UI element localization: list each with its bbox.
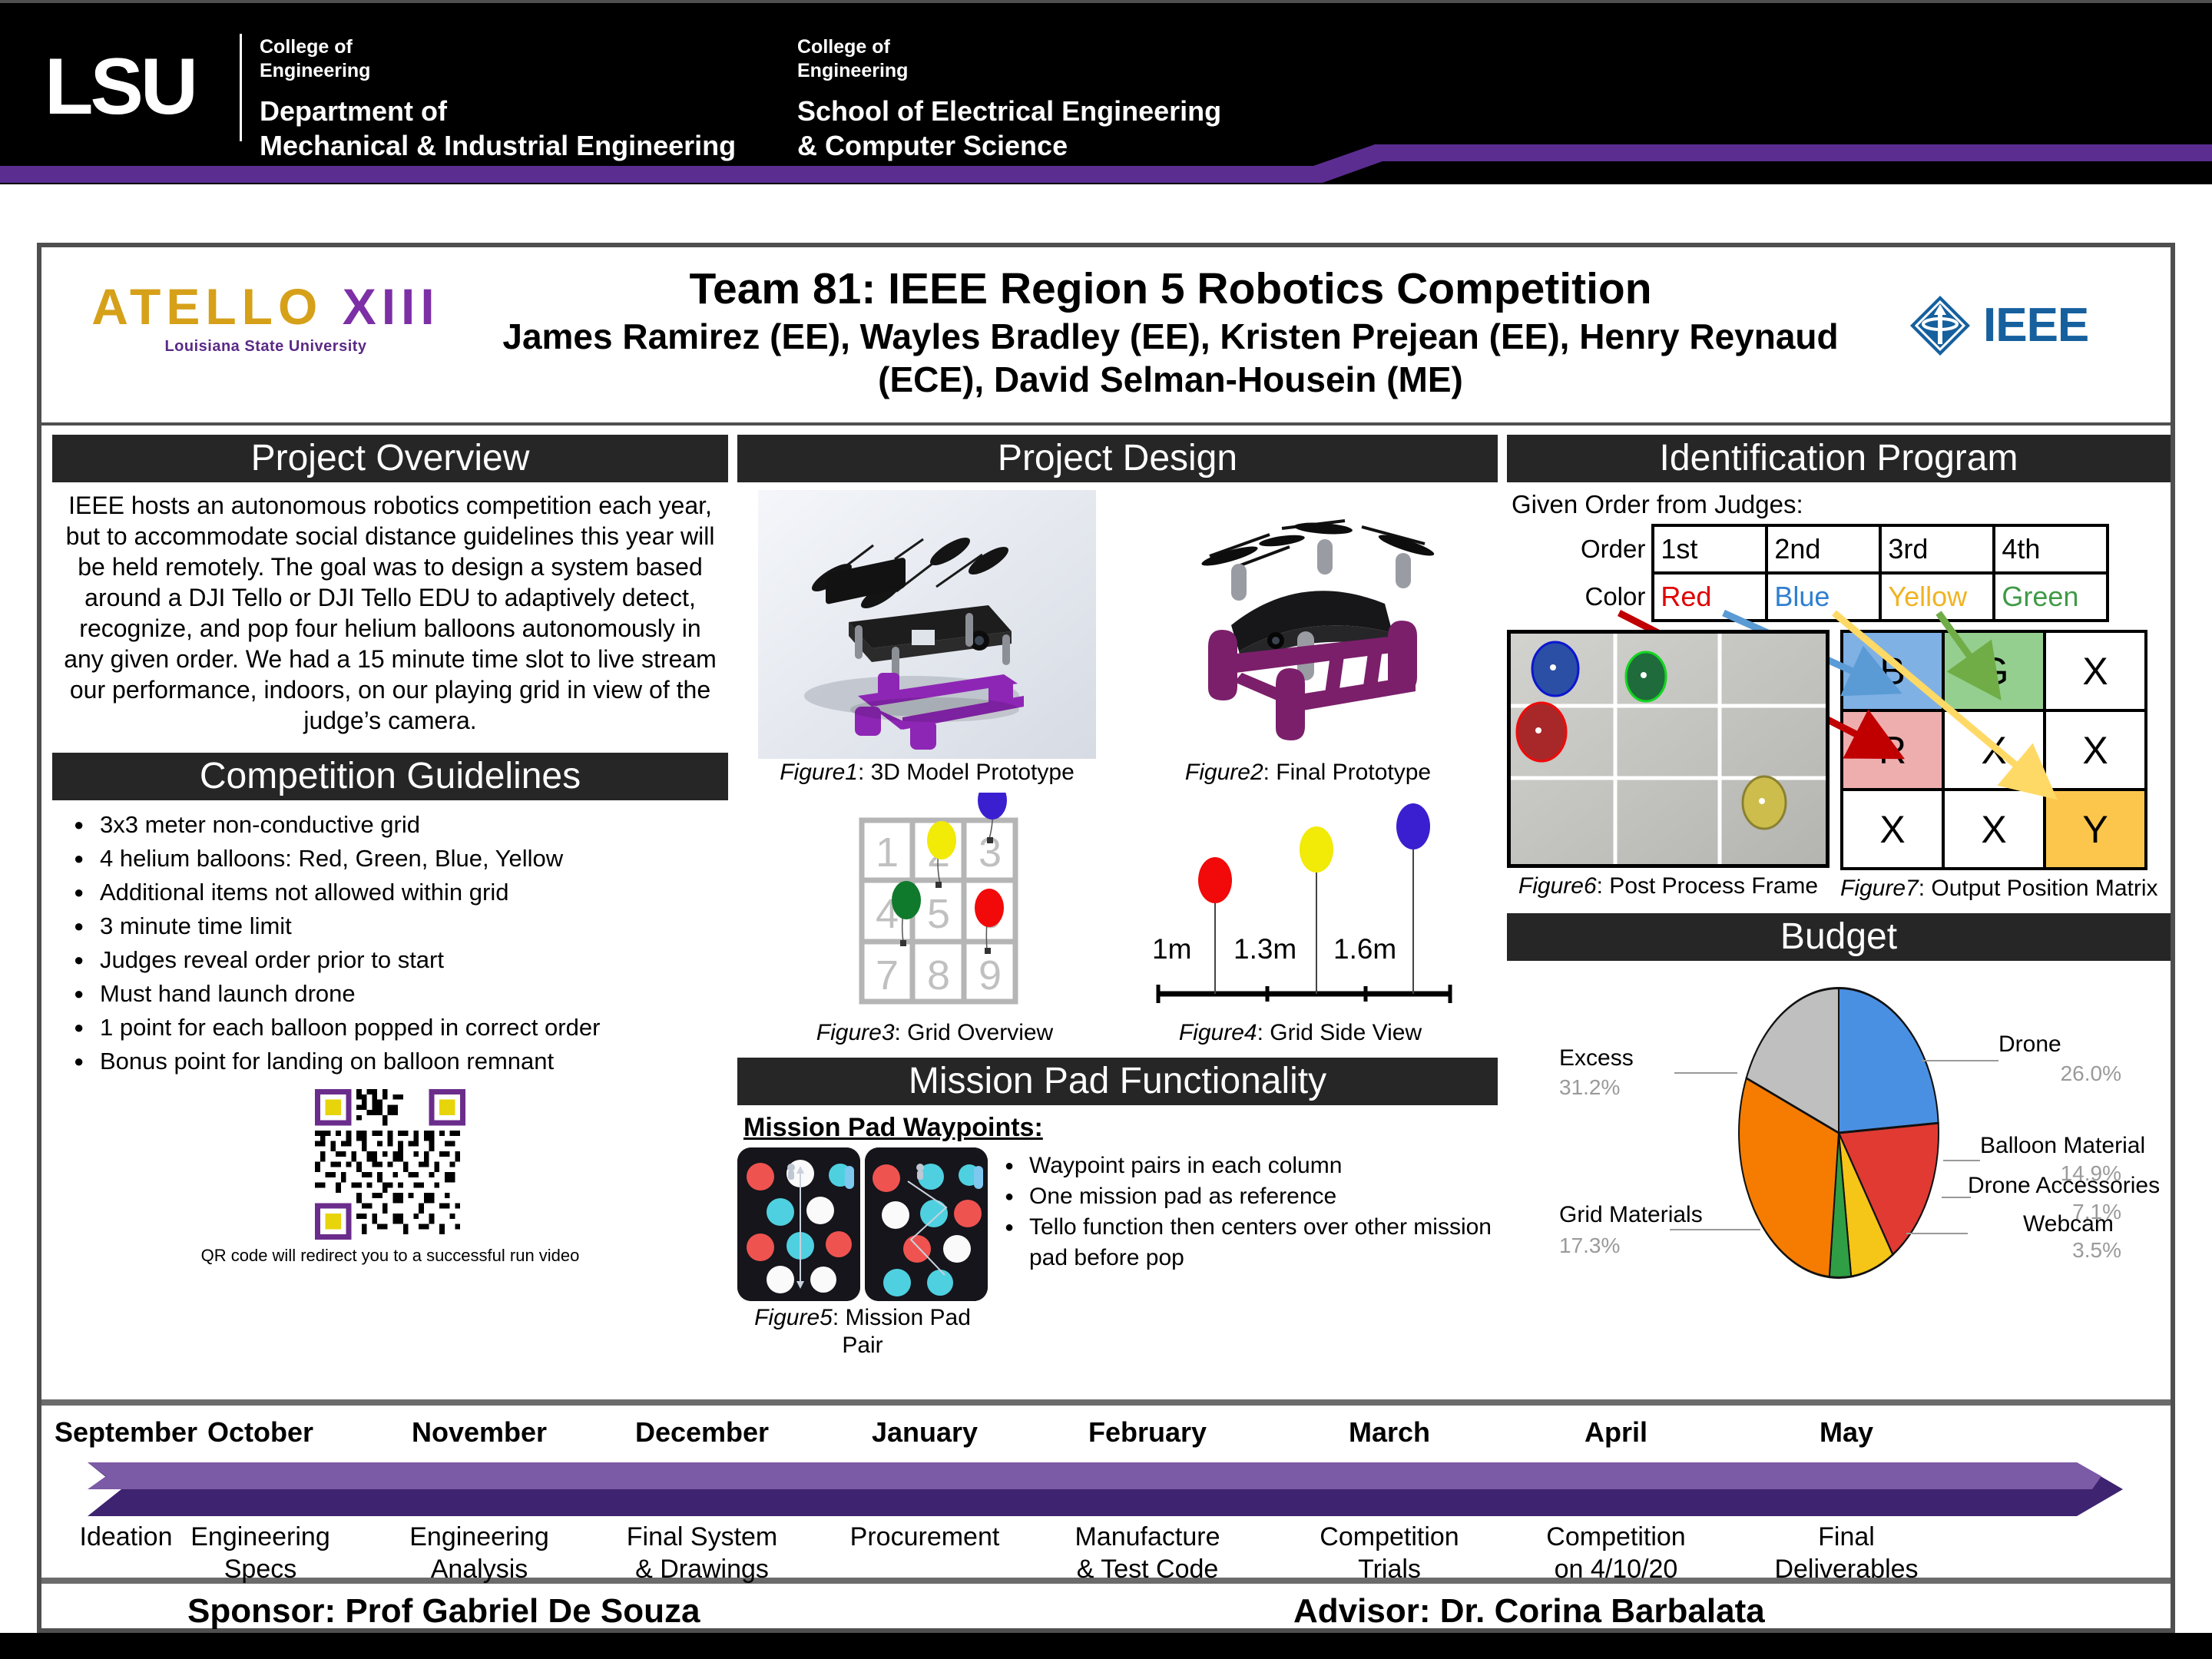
figure7-caption: Figure7: Output Position Matrix (1840, 875, 2158, 902)
identification-figures-row: Figure6: Post Process Frame B G X R X X (1507, 630, 2171, 902)
post-process-frame-image (1507, 630, 1830, 868)
section-header-competition-guidelines: Competition Guidelines (52, 753, 728, 800)
svg-text:7: 7 (876, 952, 899, 998)
figure3-caption: Figure3: Grid Overview (770, 1019, 1100, 1047)
header-top-rule (0, 0, 2212, 3)
header-purple-accent (0, 143, 2212, 184)
eecs-college-line1: College of (797, 35, 1221, 59)
figure4-block: 1m1.3m1.6m Figure4: Grid Side View (1135, 793, 1465, 1047)
mission-pad-pair-image (737, 1147, 988, 1301)
section-header-identification-program: Identification Program (1507, 435, 2171, 482)
pie-label-drone: Drone (1998, 1031, 2061, 1057)
table-row: B G X (1842, 631, 2146, 710)
competition-guidelines-list: 3x3 meter non-conductive grid 4 helium b… (74, 808, 728, 1078)
pie-label-balloon: Balloon Material (1980, 1133, 2145, 1158)
figure3-text: : Grid Overview (895, 1020, 1054, 1045)
table-row: R X X (1842, 710, 2146, 790)
judges-order-table: Order 1st 2nd 3rd 4th Color Red Blue Yel… (1581, 524, 2109, 622)
order-cell-1: 1st (1653, 525, 1767, 573)
timeline-task-9: Final Deliverables (1731, 1521, 1962, 1585)
list-item: 1 point for each balloon popped in corre… (74, 1011, 728, 1045)
eecs-school-line: School of Electrical Engineering (797, 94, 1221, 128)
budget-pie-chart: Drone 26.0% Balloon Material 14.9% Drone… (1507, 969, 2171, 1299)
mie-college-line2: Engineering (260, 59, 736, 83)
matrix-cell-r1c1: X (1943, 710, 2045, 790)
lsu-header-bar: LSU College of Engineering Department of… (0, 0, 2212, 184)
matrix-cell-r0c2: X (2045, 631, 2146, 710)
figure5-block: Figure5: Mission Pad Pair (737, 1147, 988, 1359)
pie-label-grid: Grid Materials (1559, 1202, 1703, 1227)
grid-side-view-image: 1m1.3m1.6m (1135, 793, 1465, 1019)
color-cell-3: Yellow (1880, 573, 1994, 621)
timeline-task-6: Manufacture & Test Code (1032, 1521, 1263, 1585)
table-row: Color Red Blue Yellow Green (1581, 573, 2108, 621)
bottom-black-bar (0, 1633, 2212, 1659)
mission-pad-subheading: Mission Pad Waypoints: (743, 1113, 1498, 1143)
svg-text:1: 1 (876, 829, 899, 876)
catello-xiii-logo: ATELLO XIII Louisiana State University (66, 280, 465, 370)
list-item: Must hand launch drone (74, 977, 728, 1011)
eecs-college-line2: Engineering (797, 59, 1221, 83)
timeline-task-3: Engineering Analysis (364, 1521, 594, 1585)
timeline-task-7: Competition Trials (1274, 1521, 1505, 1585)
figure2-caption: Figure2: Final Prototype (1139, 759, 1477, 786)
page-title: Team 81: IEEE Region 5 Robotics Competit… (472, 264, 1869, 313)
figure4-text: : Grid Side View (1257, 1020, 1422, 1045)
list-item: Additional items not allowed within grid (74, 876, 728, 909)
lsu-logo: LSU (45, 46, 237, 131)
given-order-label: Given Order from Judges: (1512, 490, 2171, 519)
list-item: Waypoint pairs in each column (1005, 1151, 1498, 1181)
timeline-task-4: Final System & Drawings (587, 1521, 817, 1585)
timeline-month-9: May (1731, 1416, 1962, 1449)
figure6-block: Figure6: Post Process Frame (1507, 630, 1830, 900)
section-header-project-design: Project Design (737, 435, 1498, 482)
figure1-caption: Figure1: 3D Model Prototype (758, 759, 1096, 786)
mie-college-line1: College of (260, 35, 736, 59)
figure1-block: Figure1: 3D Model Prototype (758, 490, 1096, 786)
matrix-cell-r2c2: Y (2045, 790, 2146, 869)
svg-text:1.3m: 1.3m (1233, 933, 1296, 965)
svg-text:9: 9 (979, 952, 1002, 998)
poster-footer: Sponsor: Prof Gabriel De Souza Advisor: … (41, 1590, 2171, 1633)
list-item: 3x3 meter non-conductive grid (74, 808, 728, 842)
color-cell-1: Red (1653, 573, 1767, 621)
color-row-label: Color (1581, 573, 1653, 621)
figure4-label: Figure4 (1179, 1020, 1257, 1045)
list-item: One mission pad as reference (1005, 1181, 1498, 1212)
matrix-cell-r2c1: X (1943, 790, 2045, 869)
pie-label-accessories: Drone Accessories (1968, 1173, 2160, 1198)
figure2-block: Figure2: Final Prototype (1139, 490, 1477, 786)
section-header-budget: Budget (1507, 913, 2171, 961)
figure6-caption: Figure6: Post Process Frame (1507, 873, 1830, 900)
table-row: X X Y (1842, 790, 2146, 869)
timeline-task-8: Competition on 4/10/20 (1501, 1521, 1731, 1585)
matrix-cell-r0c1: G (1943, 631, 2045, 710)
grid-overview-image: 123 456 789 (770, 793, 1100, 1019)
mission-pad-left (737, 1147, 860, 1301)
sponsor-label: Sponsor: Prof Gabriel De Souza (187, 1592, 700, 1631)
timeline-month-5: January (810, 1416, 1040, 1449)
timeline-month-2: October (145, 1416, 376, 1449)
order-cell-3: 3rd (1880, 525, 1994, 573)
mission-pad-right (865, 1147, 988, 1301)
figure6-label: Figure6 (1518, 873, 1597, 899)
qr-code-block: QR code will redirect you to a successfu… (52, 1089, 728, 1266)
timeline-arrow-band (88, 1462, 2123, 1516)
pie-label-webcam: Webcam (2023, 1211, 2114, 1237)
figure2-text: : Final Prototype (1263, 760, 1431, 785)
catello-wordmark: ATELLO XIII (66, 280, 465, 333)
timeline-month-3: November (364, 1416, 594, 1449)
right-column: Identification Program Given Order from … (1507, 435, 2171, 1299)
prototype-figures-row: Figure1: 3D Model Prototype (737, 490, 1498, 786)
pie-value-webcam: 3.5% (2072, 1238, 2121, 1262)
pie-value-grid: 17.3% (1559, 1233, 1620, 1257)
grid-figures-row: 123 456 789 (737, 793, 1498, 1047)
timeline-month-7: March (1274, 1416, 1505, 1449)
list-item: Tello function then centers over other m… (1005, 1212, 1498, 1273)
left-column: Project Overview IEEE hosts an autonomou… (52, 435, 728, 1266)
matrix-cell-r1c0: R (1842, 710, 1943, 790)
figure5-text: : Mission Pad Pair (833, 1305, 971, 1358)
pie-value-excess: 31.2% (1559, 1075, 1620, 1099)
matrix-cell-r1c2: X (2045, 710, 2146, 790)
advisor-label: Advisor: Dr. Corina Barbalata (1293, 1592, 1765, 1631)
svg-text:1m: 1m (1152, 933, 1191, 965)
svg-text:8: 8 (927, 952, 950, 998)
ieee-diamond-icon (1908, 293, 1972, 358)
timeline-month-6: February (1032, 1416, 1263, 1449)
figure3-label: Figure3 (816, 1020, 895, 1045)
drone-3d-model-image (758, 490, 1096, 759)
figure1-text: : 3D Model Prototype (858, 760, 1075, 785)
order-cell-4: 4th (1994, 525, 2108, 573)
figure7-text: : Output Position Matrix (1919, 876, 2158, 901)
ieee-wordmark: IEEE (1983, 302, 2088, 349)
author-list: James Ramirez (EE), Wayles Bradley (EE),… (472, 315, 1869, 401)
qr-code-image[interactable] (315, 1089, 465, 1240)
svg-text:5: 5 (927, 891, 950, 937)
qr-code-caption: QR code will redirect you to a successfu… (52, 1246, 728, 1266)
section-header-mission-pad: Mission Pad Functionality (737, 1058, 1498, 1105)
figure3-block: 123 456 789 (770, 793, 1100, 1047)
matrix-cell-r0c0: B (1842, 631, 1943, 710)
list-item: Judges reveal order prior to start (74, 943, 728, 977)
mission-pad-bullets: Waypoint pairs in each column One missio… (1005, 1151, 1498, 1359)
svg-text:1.6m: 1.6m (1333, 933, 1396, 965)
budget-pie-svg: Drone 26.0% Balloon Material 14.9% Drone… (1507, 969, 2171, 1291)
project-timeline: September October November December Janu… (41, 1399, 2171, 1584)
mie-dept-line: Department of (260, 94, 736, 128)
timeline-task-5: Procurement (810, 1521, 1040, 1553)
matrix-cell-r2c0: X (1842, 790, 1943, 869)
logo-divider (240, 34, 242, 141)
order-cell-2: 2nd (1767, 525, 1880, 573)
drone-final-prototype-image (1139, 490, 1477, 759)
catello-subtitle: Louisiana State University (66, 338, 465, 356)
ieee-logo: IEEE (1908, 289, 2138, 363)
figure7-label: Figure7 (1840, 876, 1919, 901)
section-header-project-overview: Project Overview (52, 435, 728, 482)
figure2-label: Figure2 (1185, 760, 1263, 785)
catello-purple-text: XIII (343, 278, 440, 335)
project-overview-text: IEEE hosts an autonomous robotics compet… (52, 490, 728, 736)
figure5-caption: Figure5: Mission Pad Pair (737, 1304, 988, 1359)
middle-column: Project Design (737, 435, 1498, 1359)
list-item: 4 helium balloons: Red, Green, Blue, Yel… (74, 842, 728, 876)
catello-gold-text: ATELLO (91, 278, 323, 335)
poster-frame: ATELLO XIII Louisiana State University T… (37, 243, 2175, 1633)
output-position-matrix: B G X R X X X X Y (1840, 630, 2147, 870)
color-cell-2: Blue (1767, 573, 1880, 621)
figure5-label: Figure5 (754, 1305, 833, 1330)
order-row-label: Order (1581, 525, 1653, 573)
table-row: Order 1st 2nd 3rd 4th (1581, 525, 2108, 573)
pie-value-drone: 26.0% (2061, 1061, 2121, 1085)
figure6-text: : Post Process Frame (1597, 873, 1818, 899)
figure4-caption: Figure4: Grid Side View (1135, 1019, 1465, 1047)
color-cell-4: Green (1994, 573, 2108, 621)
timeline-task-2: Engineering Specs (145, 1521, 376, 1585)
pie-label-excess: Excess (1559, 1045, 1634, 1071)
figure1-label: Figure1 (780, 760, 858, 785)
mission-pad-content-row: Figure5: Mission Pad Pair Waypoint pairs… (737, 1147, 1498, 1359)
list-item: 3 minute time limit (74, 909, 728, 943)
figure7-block: B G X R X X X X Y Figure7: Outpu (1840, 630, 2158, 902)
poster-title-band: ATELLO XIII Louisiana State University T… (41, 247, 2171, 426)
list-item: Bonus point for landing on balloon remna… (74, 1045, 728, 1078)
timeline-month-8: April (1501, 1416, 1731, 1449)
timeline-month-4: December (587, 1416, 817, 1449)
